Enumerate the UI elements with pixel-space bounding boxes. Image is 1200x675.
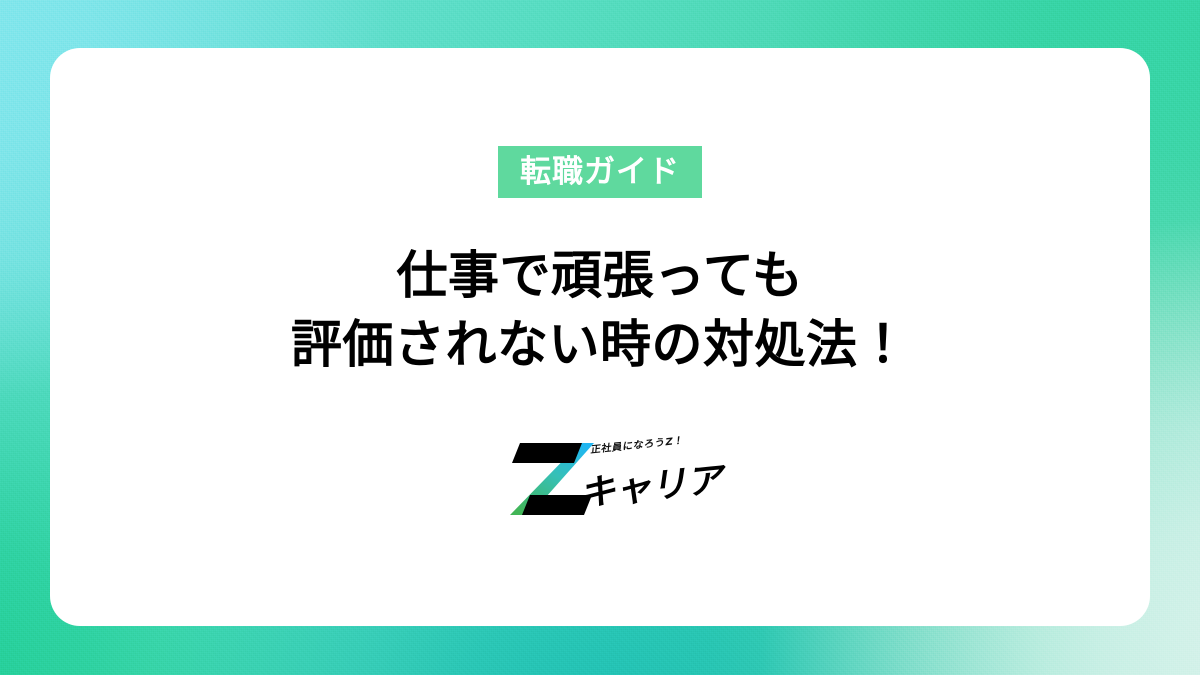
page-title-line-2: 評価されない時の対処法！ — [291, 311, 909, 380]
brand-logo: 正社員になろうZ！ キャリア — [502, 435, 698, 521]
page-title: 仕事で頑張っても 評価されない時の対処法！ — [291, 242, 909, 381]
page-title-line-1: 仕事で頑張っても — [291, 242, 909, 311]
logo-tagline: 正社員になろうZ！ — [590, 431, 685, 456]
poster-canvas: 転職ガイド 仕事で頑張っても 評価されない時の対処法！ — [0, 0, 1200, 675]
category-badge: 転職ガイド — [498, 146, 702, 198]
logo-wordmark: キャリア — [579, 450, 729, 516]
content-card: 転職ガイド 仕事で頑張っても 評価されない時の対処法！ — [50, 48, 1150, 626]
